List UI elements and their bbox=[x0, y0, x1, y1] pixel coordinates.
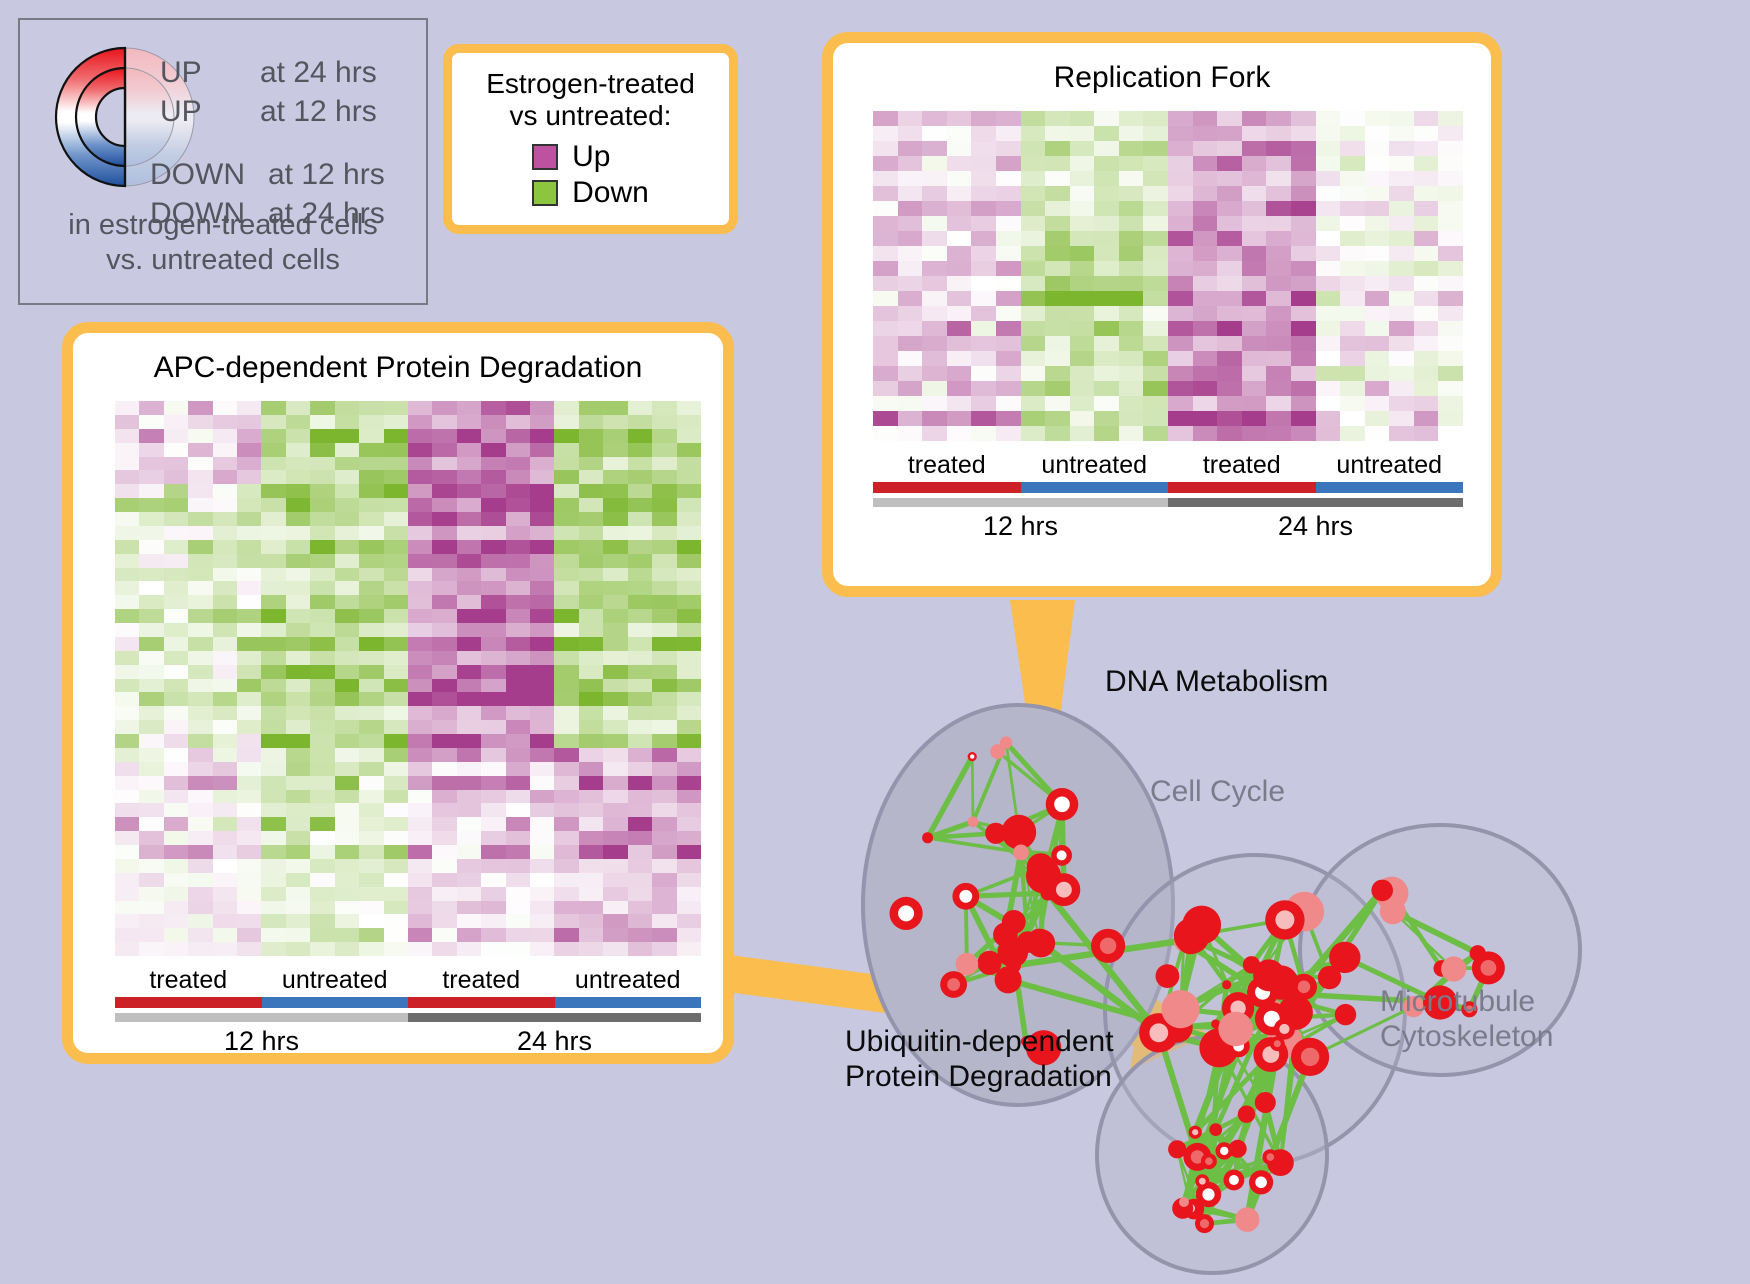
heatmap-cell bbox=[1242, 201, 1267, 216]
heatmap-cell bbox=[603, 928, 627, 942]
heatmap-cell bbox=[603, 901, 627, 915]
heatmap-cell bbox=[188, 470, 212, 484]
heatmap-cell bbox=[188, 942, 212, 956]
heatmap-cell bbox=[164, 928, 188, 942]
heatmap-cell bbox=[1365, 246, 1390, 261]
heatmap-cell bbox=[1094, 111, 1119, 126]
heatmap-cell bbox=[628, 720, 652, 734]
heatmap-cell bbox=[359, 415, 383, 429]
heatmap-cell bbox=[457, 692, 481, 706]
heatmap-cell bbox=[457, 748, 481, 762]
heatmap-cell bbox=[554, 803, 578, 817]
heatmap-cell bbox=[1438, 231, 1463, 246]
heatmap-cell bbox=[261, 817, 285, 831]
heatmap-cell bbox=[947, 351, 972, 366]
panel-replication-fork-title: Replication Fork bbox=[833, 61, 1491, 95]
heatmap-cell bbox=[335, 457, 359, 471]
heatmap-cell bbox=[1242, 171, 1267, 186]
heatmap-cell bbox=[384, 526, 408, 540]
heatmap-cell bbox=[432, 762, 456, 776]
heatmap-cell bbox=[603, 484, 627, 498]
heatmap-cell bbox=[1438, 291, 1463, 306]
heatmap-cell bbox=[1291, 246, 1316, 261]
heatmap-cell bbox=[603, 803, 627, 817]
heatmap-cell bbox=[898, 306, 923, 321]
heatmap-cell bbox=[164, 914, 188, 928]
apc-group-bars bbox=[115, 997, 701, 1008]
heatmap-cell bbox=[384, 679, 408, 693]
heatmap-cell bbox=[1119, 231, 1144, 246]
heatmap-cell bbox=[677, 623, 701, 637]
heatmap-cell bbox=[164, 651, 188, 665]
heatmap-cell bbox=[359, 637, 383, 651]
heatmap-cell bbox=[139, 470, 163, 484]
heatmap-cell bbox=[1143, 276, 1168, 291]
heatmap-cell bbox=[1193, 126, 1218, 141]
heatmap-cell bbox=[898, 171, 923, 186]
heatmap-cell bbox=[1021, 201, 1046, 216]
heatmap-cell bbox=[1365, 156, 1390, 171]
heatmap-cell bbox=[873, 216, 898, 231]
heatmap-cell bbox=[359, 470, 383, 484]
heatmap-cell bbox=[237, 831, 261, 845]
heatmap-cell bbox=[115, 512, 139, 526]
heatmap-cell bbox=[115, 457, 139, 471]
heatmap-cell bbox=[115, 498, 139, 512]
heatmap-cell bbox=[1414, 411, 1439, 426]
heatmap-cell bbox=[579, 692, 603, 706]
heatmap-cell bbox=[603, 554, 627, 568]
estrogen-legend-items: Up Down bbox=[532, 138, 649, 210]
heatmap-cell bbox=[481, 512, 505, 526]
heatmap-cell bbox=[628, 942, 652, 956]
heatmap-cell bbox=[457, 859, 481, 873]
heatmap-cell bbox=[1021, 321, 1046, 336]
heatmap-cell bbox=[1094, 201, 1119, 216]
heatmap-cell bbox=[1266, 261, 1291, 276]
heatmap-cell bbox=[115, 581, 139, 595]
heatmap-cell bbox=[506, 457, 530, 471]
heatmap-cell bbox=[286, 720, 310, 734]
heatmap-cell bbox=[652, 942, 676, 956]
heatmap-cell bbox=[922, 141, 947, 156]
heatmap-cell bbox=[237, 665, 261, 679]
heatmap-cell bbox=[408, 512, 432, 526]
heatmap-cell bbox=[898, 426, 923, 441]
heatmap-cell bbox=[335, 942, 359, 956]
heatmap-cell bbox=[408, 568, 432, 582]
heatmap-cell bbox=[677, 790, 701, 804]
heatmap-cell bbox=[1266, 336, 1291, 351]
legend-item-up: Up bbox=[532, 140, 649, 174]
heatmap-cell bbox=[579, 609, 603, 623]
colorwheel-legend-box: UP at 24 hrs UP at 12 hrs DOWN at 12 hrs… bbox=[18, 18, 428, 305]
heatmap-cell bbox=[677, 734, 701, 748]
heatmap-cell bbox=[1266, 171, 1291, 186]
heatmap-cell bbox=[971, 156, 996, 171]
heatmap-cell bbox=[677, 859, 701, 873]
heatmap-cell bbox=[1365, 336, 1390, 351]
heatmap-cell bbox=[1266, 141, 1291, 156]
heatmap-cell bbox=[628, 762, 652, 776]
heatmap-cell bbox=[506, 831, 530, 845]
heatmap-cell bbox=[139, 665, 163, 679]
heatmap-cell bbox=[139, 692, 163, 706]
heatmap-cell bbox=[164, 831, 188, 845]
heatmap-cell bbox=[1045, 261, 1070, 276]
heatmap-cell bbox=[1340, 276, 1365, 291]
heatmap-cell bbox=[335, 526, 359, 540]
heatmap-cell bbox=[1414, 306, 1439, 321]
heatmap-cell bbox=[1045, 126, 1070, 141]
heatmap-cell bbox=[286, 734, 310, 748]
heatmap-cell bbox=[1414, 396, 1439, 411]
heatmap-cell bbox=[947, 276, 972, 291]
heatmap-cell bbox=[286, 637, 310, 651]
heatmap-cell bbox=[457, 706, 481, 720]
heatmap-cell bbox=[335, 831, 359, 845]
heatmap-cell bbox=[947, 186, 972, 201]
heatmap-cell bbox=[310, 803, 334, 817]
heatmap-cell bbox=[261, 665, 285, 679]
heatmap-cell bbox=[554, 498, 578, 512]
heatmap-cell bbox=[164, 429, 188, 443]
heatmap-cell bbox=[1193, 366, 1218, 381]
network-node bbox=[1254, 970, 1263, 979]
heatmap-cell bbox=[115, 443, 139, 457]
heatmap-cell bbox=[1168, 321, 1193, 336]
heatmap-cell bbox=[1365, 426, 1390, 441]
heatmap-cell bbox=[335, 748, 359, 762]
heatmap-cell bbox=[1438, 411, 1463, 426]
heatmap-cell bbox=[237, 568, 261, 582]
heatmap-cell bbox=[286, 887, 310, 901]
legend-row-down-12-term: DOWN bbox=[150, 158, 245, 192]
heatmap-cell bbox=[1193, 291, 1218, 306]
heatmap-cell bbox=[1021, 426, 1046, 441]
heatmap-cell bbox=[213, 470, 237, 484]
heatmap-cell bbox=[947, 126, 972, 141]
heatmap-cell bbox=[115, 568, 139, 582]
heatmap-cell bbox=[554, 748, 578, 762]
heatmap-cell bbox=[1217, 306, 1242, 321]
heatmap-cell bbox=[1389, 156, 1414, 171]
heatmap-cell bbox=[188, 831, 212, 845]
heatmap-cell bbox=[481, 470, 505, 484]
heatmap-cell bbox=[457, 443, 481, 457]
heatmap-cell bbox=[628, 401, 652, 415]
heatmap-cell bbox=[947, 336, 972, 351]
heatmap-cell bbox=[530, 512, 554, 526]
heatmap-cell bbox=[1365, 321, 1390, 336]
heatmap-cell bbox=[677, 692, 701, 706]
heatmap-cell bbox=[922, 291, 947, 306]
heatmap-cell bbox=[188, 637, 212, 651]
heatmap-cell bbox=[1070, 336, 1095, 351]
heatmap-cell bbox=[1291, 141, 1316, 156]
heatmap-cell bbox=[164, 734, 188, 748]
heatmap-cell bbox=[1168, 201, 1193, 216]
heatmap-cell bbox=[554, 720, 578, 734]
heatmap-cell bbox=[971, 186, 996, 201]
heatmap-cell bbox=[408, 803, 432, 817]
heatmap-cell bbox=[213, 637, 237, 651]
heatmap-cell bbox=[1021, 291, 1046, 306]
heatmap-cell bbox=[1217, 366, 1242, 381]
heatmap-cell bbox=[506, 470, 530, 484]
heatmap-cell bbox=[652, 470, 676, 484]
heatmap-cell bbox=[237, 609, 261, 623]
heatmap-cell bbox=[335, 498, 359, 512]
heatmap-cell bbox=[652, 901, 676, 915]
heatmap-cell bbox=[164, 692, 188, 706]
heatmap-cell bbox=[237, 928, 261, 942]
heatmap-cell bbox=[457, 790, 481, 804]
heatmap-cell bbox=[139, 790, 163, 804]
heatmap-cell bbox=[261, 692, 285, 706]
network-node-core bbox=[1200, 1219, 1209, 1228]
heatmap-cell bbox=[115, 554, 139, 568]
heatmap-cell bbox=[359, 817, 383, 831]
heatmap-cell bbox=[1168, 351, 1193, 366]
heatmap-cell bbox=[1094, 321, 1119, 336]
heatmap-cell bbox=[139, 762, 163, 776]
heatmap-cell bbox=[677, 581, 701, 595]
heatmap-cell bbox=[628, 457, 652, 471]
heatmap-cell bbox=[115, 526, 139, 540]
heatmap-cell bbox=[286, 831, 310, 845]
heatmap-cell bbox=[1217, 126, 1242, 141]
heatmap-cell bbox=[1340, 426, 1365, 441]
network-node-core bbox=[1100, 938, 1116, 954]
heatmap-cell bbox=[432, 470, 456, 484]
time-label-24hrs: 24 hrs bbox=[1168, 511, 1463, 542]
heatmap-cell bbox=[481, 609, 505, 623]
heatmap-cell bbox=[286, 623, 310, 637]
heatmap-cell bbox=[579, 540, 603, 554]
heatmap-cell bbox=[947, 141, 972, 156]
heatmap-cell bbox=[922, 396, 947, 411]
heatmap-cell bbox=[408, 859, 432, 873]
heatmap-cell bbox=[384, 498, 408, 512]
heatmap-cell bbox=[286, 817, 310, 831]
heatmap-cell bbox=[481, 748, 505, 762]
heatmap-cell bbox=[115, 748, 139, 762]
heatmap-cell bbox=[237, 637, 261, 651]
heatmap-cell bbox=[1438, 201, 1463, 216]
heatmap-cell bbox=[384, 831, 408, 845]
heatmap-cell bbox=[579, 457, 603, 471]
heatmap-cell bbox=[213, 623, 237, 637]
heatmap-cell bbox=[506, 568, 530, 582]
network-node-core bbox=[970, 754, 974, 758]
heatmap-cell bbox=[554, 790, 578, 804]
heatmap-cell bbox=[1266, 111, 1291, 126]
heatmap-cell bbox=[1021, 261, 1046, 276]
heatmap-cell bbox=[481, 595, 505, 609]
heatmap-cell bbox=[261, 776, 285, 790]
heatmap-cell bbox=[335, 540, 359, 554]
heatmap-cell bbox=[579, 637, 603, 651]
heatmap-cell bbox=[139, 873, 163, 887]
heatmap-cell bbox=[506, 748, 530, 762]
heatmap-cell bbox=[335, 484, 359, 498]
heatmap-cell bbox=[384, 609, 408, 623]
heatmap-cell bbox=[1340, 381, 1365, 396]
heatmap-cell bbox=[310, 665, 334, 679]
heatmap-cell bbox=[1242, 246, 1267, 261]
heatmap-cell bbox=[213, 401, 237, 415]
heatmap-cell bbox=[506, 928, 530, 942]
heatmap-cell bbox=[971, 291, 996, 306]
heatmap-cell bbox=[457, 526, 481, 540]
heatmap-cell bbox=[873, 291, 898, 306]
heatmap-cell bbox=[677, 679, 701, 693]
heatmap-cell bbox=[139, 901, 163, 915]
heatmap-cell bbox=[261, 401, 285, 415]
heatmap-cell bbox=[652, 554, 676, 568]
heatmap-cell bbox=[677, 748, 701, 762]
heatmap-cell bbox=[947, 291, 972, 306]
heatmap-cell bbox=[628, 498, 652, 512]
heatmap-cell bbox=[1045, 186, 1070, 201]
heatmap-cell bbox=[1021, 126, 1046, 141]
heatmap-cell bbox=[1316, 126, 1341, 141]
heatmap-cell bbox=[1316, 156, 1341, 171]
heatmap-cell bbox=[457, 623, 481, 637]
heatmap-cell bbox=[139, 845, 163, 859]
estrogen-legend-card: Estrogen-treated vs untreated: Up Down bbox=[443, 44, 738, 234]
heatmap-cell bbox=[652, 581, 676, 595]
heatmap-cell bbox=[1266, 411, 1291, 426]
heatmap-cell bbox=[506, 859, 530, 873]
heatmap-cell bbox=[996, 291, 1021, 306]
heatmap-cell bbox=[164, 443, 188, 457]
heatmap-cell bbox=[603, 401, 627, 415]
heatmap-cell bbox=[457, 512, 481, 526]
legend-row-up-12-term: UP bbox=[160, 95, 202, 129]
heatmap-cell bbox=[286, 873, 310, 887]
heatmap-cell bbox=[1242, 321, 1267, 336]
heatmap-cell bbox=[603, 776, 627, 790]
heatmap-cell bbox=[1217, 426, 1242, 441]
heatmap-cell bbox=[188, 415, 212, 429]
heatmap-cell bbox=[530, 803, 554, 817]
cluster-label-microtubule-cytoskeleton: Microtubule Cytoskeleton bbox=[1380, 985, 1553, 1054]
heatmap-cell bbox=[1266, 396, 1291, 411]
heatmap-cell bbox=[652, 720, 676, 734]
heatmap-cell bbox=[432, 651, 456, 665]
heatmap-cell bbox=[164, 845, 188, 859]
network-node-core bbox=[1057, 850, 1067, 860]
heatmap-cell bbox=[506, 637, 530, 651]
heatmap-cell bbox=[432, 623, 456, 637]
heatmap-cell bbox=[1340, 231, 1365, 246]
heatmap-cell bbox=[335, 651, 359, 665]
heatmap-cell bbox=[115, 665, 139, 679]
heatmap-cell bbox=[1340, 141, 1365, 156]
heatmap-cell bbox=[481, 790, 505, 804]
heatmap-cell bbox=[1217, 336, 1242, 351]
heatmap-cell bbox=[947, 381, 972, 396]
heatmap-cell bbox=[164, 457, 188, 471]
heatmap-cell bbox=[506, 512, 530, 526]
heatmap-cell bbox=[579, 928, 603, 942]
heatmap-cell bbox=[286, 554, 310, 568]
heatmap-cell bbox=[310, 859, 334, 873]
heatmap-cell bbox=[1119, 306, 1144, 321]
heatmap-cell bbox=[335, 470, 359, 484]
heatmap-cell bbox=[1389, 201, 1414, 216]
heatmap-cell bbox=[1389, 381, 1414, 396]
heatmap-cell bbox=[1193, 381, 1218, 396]
heatmap-cell bbox=[408, 470, 432, 484]
heatmap-cell bbox=[1217, 216, 1242, 231]
heatmap-cell bbox=[652, 526, 676, 540]
heatmap-cell bbox=[1217, 381, 1242, 396]
heatmap-cell bbox=[1291, 366, 1316, 381]
heatmap-cell bbox=[506, 554, 530, 568]
heatmap-cell bbox=[603, 887, 627, 901]
heatmap-cell bbox=[506, 651, 530, 665]
heatmap-cell bbox=[628, 429, 652, 443]
heatmap-cell bbox=[1168, 276, 1193, 291]
heatmap-cell bbox=[335, 429, 359, 443]
heatmap-cell bbox=[652, 595, 676, 609]
heatmap-cell bbox=[432, 734, 456, 748]
heatmap-cell bbox=[481, 665, 505, 679]
heatmap-cell bbox=[115, 484, 139, 498]
heatmap-cell bbox=[286, 748, 310, 762]
heatmap-cell bbox=[359, 901, 383, 915]
heatmap-cell bbox=[1168, 111, 1193, 126]
heatmap-cell bbox=[1021, 231, 1046, 246]
heatmap-cell bbox=[164, 470, 188, 484]
heatmap-cell bbox=[1070, 366, 1095, 381]
heatmap-cell bbox=[898, 216, 923, 231]
heatmap-cell bbox=[1045, 306, 1070, 321]
heatmap-cell bbox=[603, 415, 627, 429]
heatmap-cell bbox=[530, 498, 554, 512]
heatmap-cell bbox=[971, 411, 996, 426]
heatmap-cell bbox=[481, 762, 505, 776]
heatmap-cell bbox=[579, 415, 603, 429]
heatmap-cell bbox=[139, 817, 163, 831]
heatmap-cell bbox=[1414, 261, 1439, 276]
heatmap-cell bbox=[506, 415, 530, 429]
heatmap-cell bbox=[188, 581, 212, 595]
heatmap-cell bbox=[506, 443, 530, 457]
heatmap-cell bbox=[1070, 111, 1095, 126]
heatmap-cell bbox=[359, 623, 383, 637]
time-bar-12hrs bbox=[873, 498, 1168, 507]
heatmap-cell bbox=[261, 470, 285, 484]
heatmap-cell bbox=[603, 679, 627, 693]
heatmap-cell bbox=[457, 831, 481, 845]
heatmap-cell bbox=[1365, 216, 1390, 231]
heatmap-cell bbox=[408, 901, 432, 915]
heatmap-cell bbox=[139, 859, 163, 873]
heatmap-cell bbox=[873, 426, 898, 441]
heatmap-cell bbox=[996, 411, 1021, 426]
heatmap-cell bbox=[310, 748, 334, 762]
heatmap-cell bbox=[1070, 411, 1095, 426]
heatmap-cell bbox=[1168, 156, 1193, 171]
heatmap-cell bbox=[530, 914, 554, 928]
heatmap-cell bbox=[457, 928, 481, 942]
heatmap-cell bbox=[359, 651, 383, 665]
heatmap-cell bbox=[1094, 426, 1119, 441]
